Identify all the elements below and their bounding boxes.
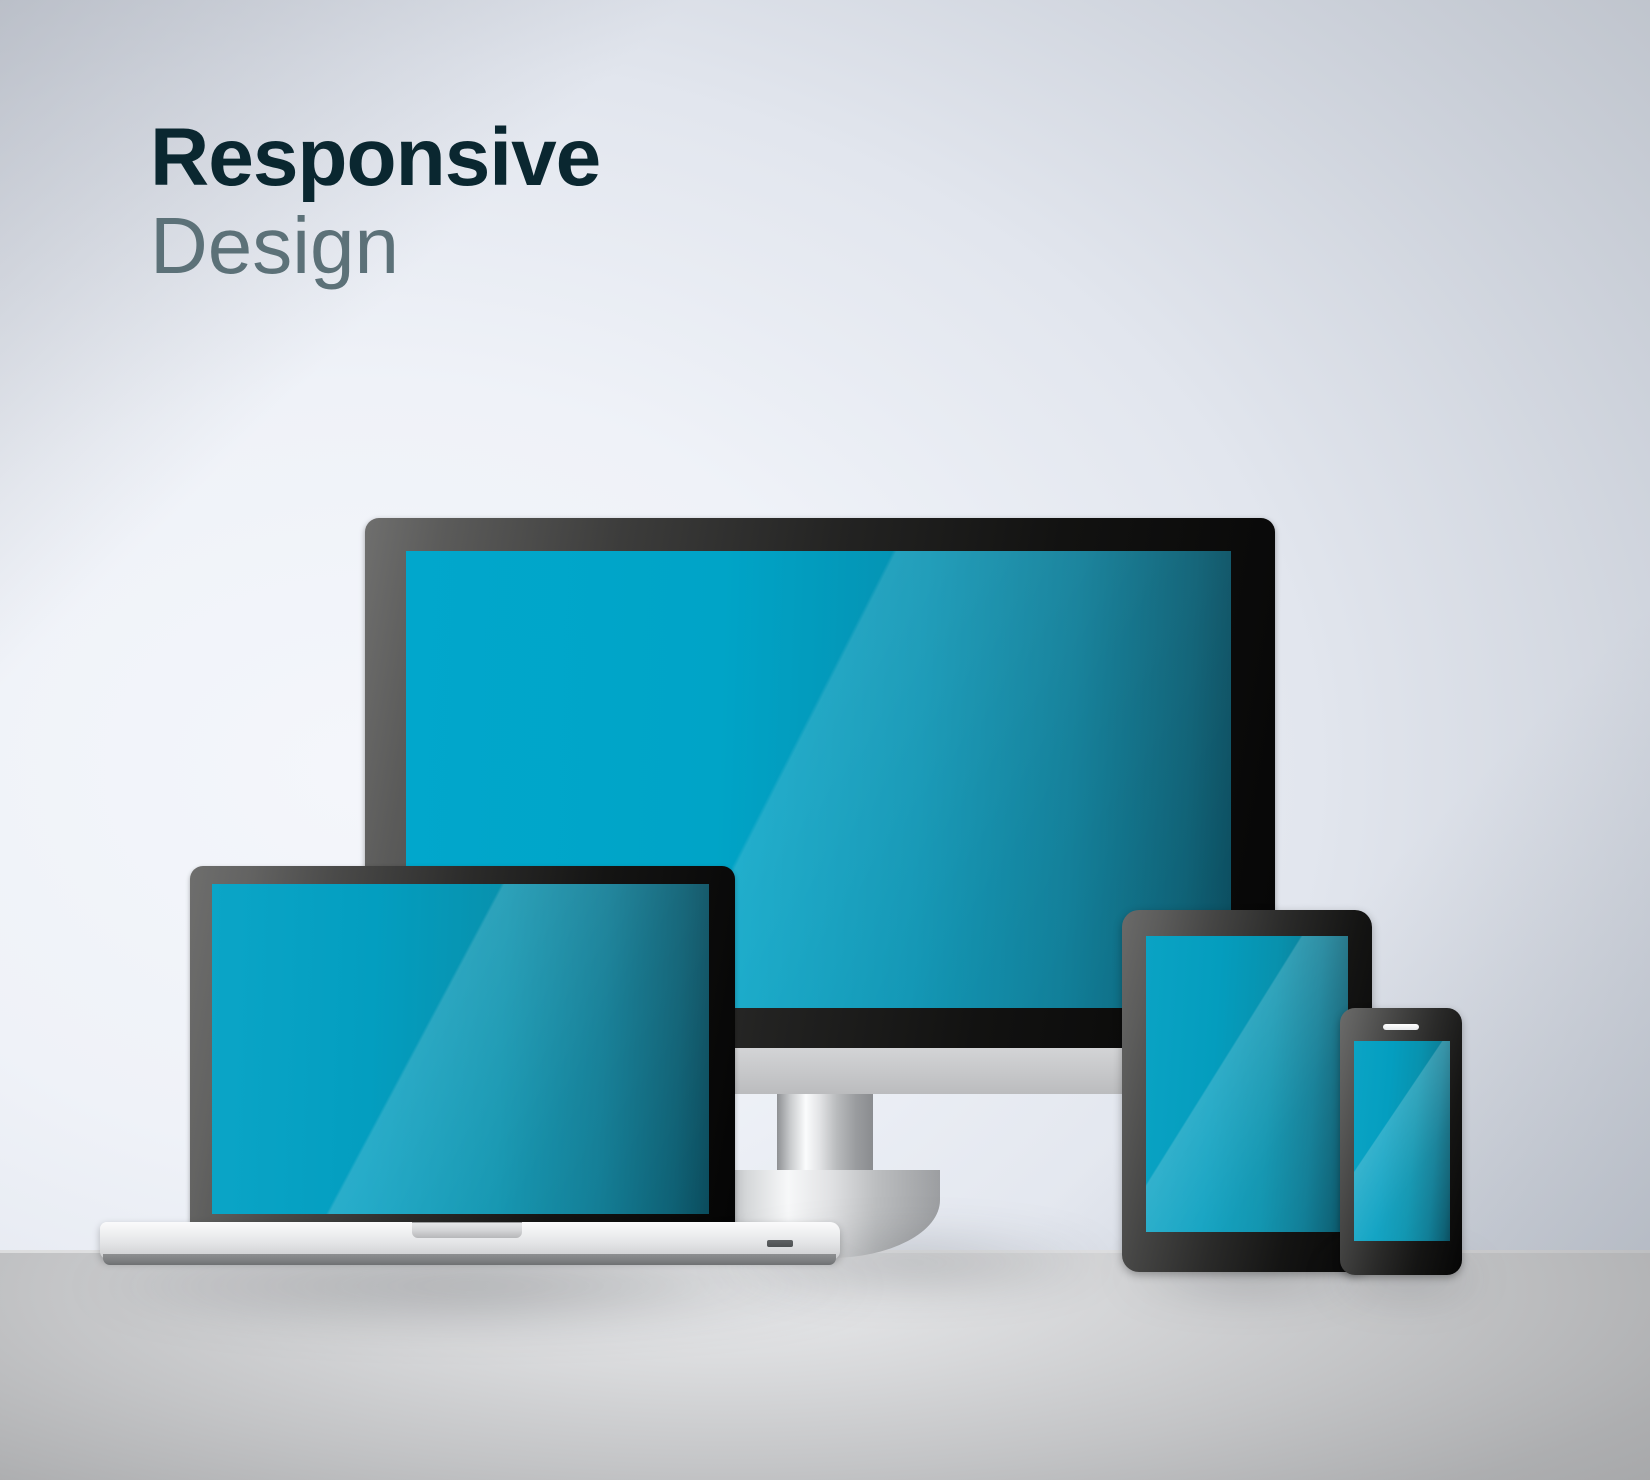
speaker-grille-icon <box>1383 1024 1419 1030</box>
tablet-screen-gloss <box>1146 936 1348 1232</box>
latch-notch-icon <box>412 1222 522 1238</box>
headline-block: Responsive Design <box>150 118 600 288</box>
laptop-screen[interactable] <box>212 884 709 1214</box>
tablet-bezel <box>1122 910 1372 1272</box>
device-laptop[interactable] <box>190 866 735 1256</box>
port-slot-icon <box>767 1240 793 1247</box>
phone-screen-gloss <box>1354 1041 1450 1241</box>
phone-bezel <box>1340 1008 1462 1275</box>
device-tablet[interactable] <box>1122 910 1372 1272</box>
tablet-screen[interactable] <box>1146 936 1348 1232</box>
phone-screen[interactable] <box>1354 1041 1450 1241</box>
laptop-lid <box>190 866 735 1256</box>
laptop-base-front-edge <box>103 1254 836 1265</box>
page-subtitle: Design <box>150 204 600 288</box>
page-title: Responsive <box>150 118 600 198</box>
device-smartphone[interactable] <box>1340 1008 1462 1275</box>
responsive-design-illustration: Responsive Design <box>0 0 1650 1480</box>
laptop-screen-gloss <box>212 884 709 1214</box>
